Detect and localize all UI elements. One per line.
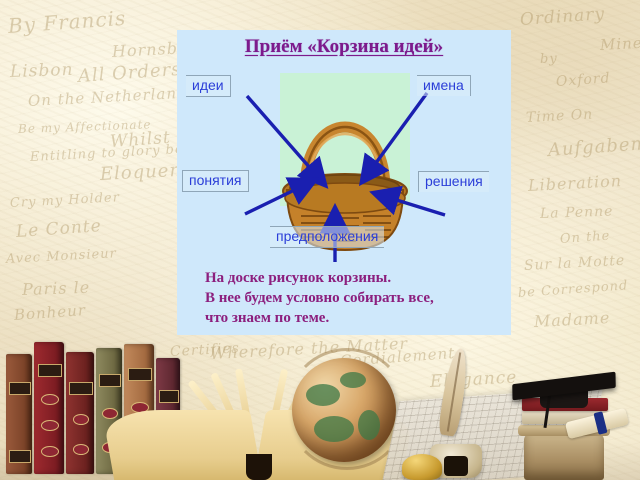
label-ideas[interactable]: идеи [186, 75, 231, 97]
globe-icon [292, 358, 396, 462]
pedestal [524, 434, 604, 480]
description-line-1: На доске рисунок корзины. [205, 268, 495, 288]
arrow-decisions [374, 193, 445, 215]
brass-bell-icon [402, 454, 442, 480]
slide-canvas: By FrancisHornsbyLisbonAll OrdersOn the … [0, 0, 640, 480]
label-names[interactable]: имена [417, 75, 471, 96]
label-assumptions[interactable]: предположения [270, 226, 384, 248]
arrow-concepts [245, 180, 315, 214]
description-text: На доске рисунок корзины. В нее будем ус… [205, 268, 495, 328]
book-page-left [102, 410, 262, 480]
book-spine [34, 342, 64, 474]
label-concepts[interactable]: понятия [182, 170, 249, 192]
content-panel: Приём «Корзина идей» [177, 30, 511, 335]
book-spine [6, 354, 32, 474]
educational-decor-strip [0, 330, 640, 480]
book-spine-center [246, 454, 272, 480]
book-spine [66, 352, 94, 474]
description-line-2: В нее будем условно собирать все, [205, 288, 495, 308]
arrow-ideas [247, 96, 325, 185]
label-decisions[interactable]: решения [418, 171, 489, 192]
description-line-3: что знаем по теме. [205, 308, 495, 328]
arrow-names [362, 93, 427, 182]
